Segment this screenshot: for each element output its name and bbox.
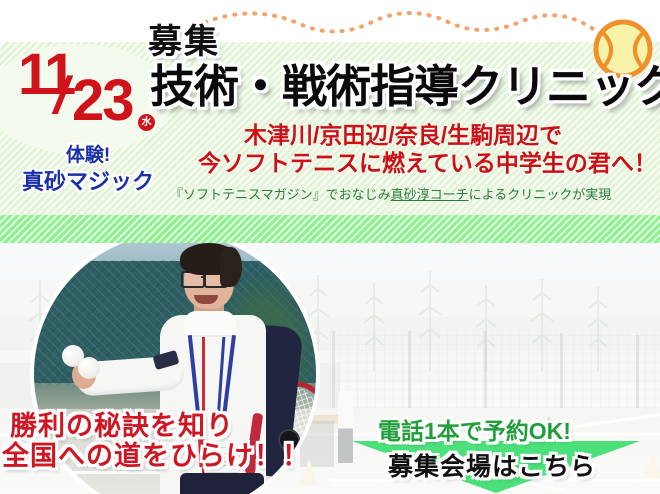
page-title: 技術・戦術指導クリニック — [150, 50, 660, 115]
glasses-bridge — [201, 276, 206, 278]
note-suffix: によるクリニックが実現 — [469, 187, 612, 202]
date-weekday-badge: 水 — [138, 114, 155, 131]
date-subtitle-line2: 真砂マジック — [0, 164, 176, 196]
note-prefix: 『ソフトテニスマガジン』でおなじみ — [170, 187, 391, 202]
coach-hair-side — [220, 247, 242, 287]
note-line: 『ソフトテニスマガジン』でおなじみ真砂淳コーチによるクリニックが実現 — [170, 184, 611, 203]
coach-trousers — [180, 473, 264, 494]
top-white-strip — [0, 0, 660, 42]
tennis-ball-held — [78, 357, 100, 379]
date-day: 23 — [72, 72, 133, 130]
promo-banner: 11 / 23 水 体験! 真砂マジック 募集 技術・戦術指導クリニック 木津川… — [0, 0, 660, 494]
coach-name-link[interactable]: 真砂淳コーチ — [391, 187, 469, 202]
subtitle-line-2: 今ソフトテニスに燃えている中学生の君へ！ — [198, 144, 657, 178]
callout-right-phone: 電話1本で予約OK! — [378, 412, 571, 446]
header-green-band — [0, 215, 660, 243]
venue-cta-button[interactable]: 募集会場はこちら — [388, 447, 596, 483]
callout-left-line2: 全国への道をひらけ！！ — [2, 434, 310, 473]
coach-jacket-collar — [184, 311, 236, 337]
date-subtitle-line1: 体験! — [0, 140, 176, 167]
